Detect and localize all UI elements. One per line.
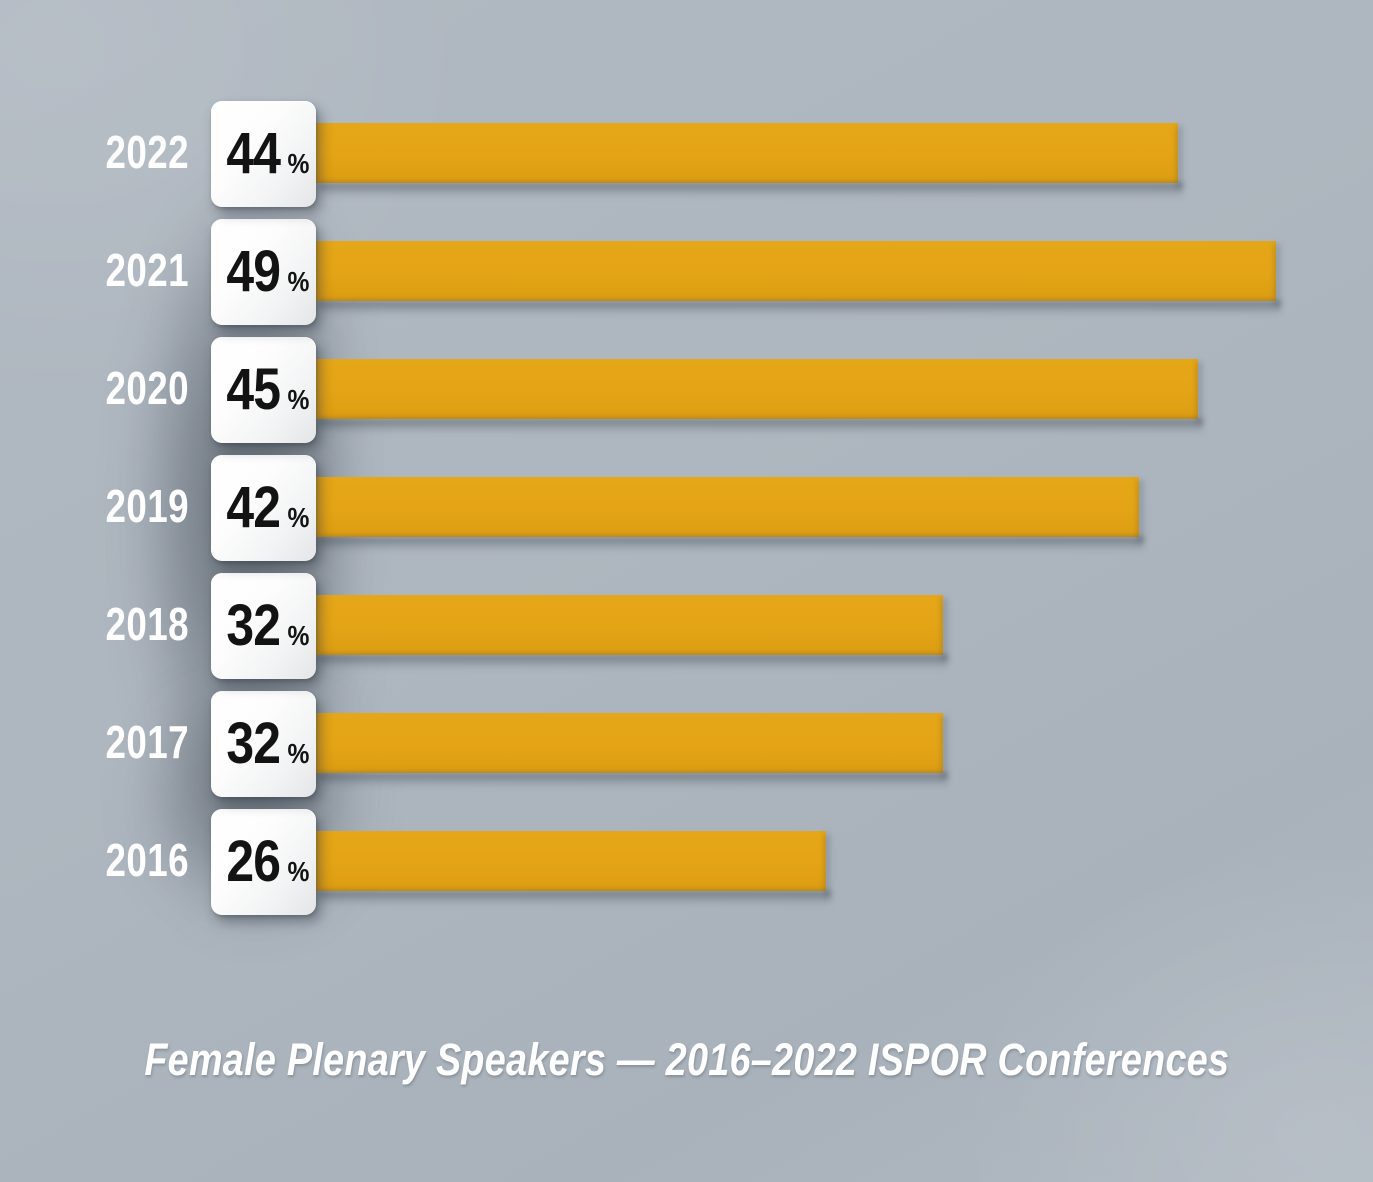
year-label: 2016 — [38, 837, 189, 883]
value-bar — [316, 831, 826, 891]
year-label: 2021 — [38, 247, 189, 293]
year-label: 2019 — [38, 483, 189, 529]
percent-card-content: 45% — [211, 361, 310, 419]
percent-card-content: 26% — [211, 833, 310, 891]
value-bar-end-shadow — [1197, 362, 1204, 424]
percent-sign: % — [287, 622, 309, 650]
percent-value: 45 — [226, 361, 280, 419]
percent-value: 42 — [226, 479, 280, 537]
value-bar-fill — [316, 595, 943, 655]
year-label: 2018 — [38, 601, 189, 647]
value-bar-end-shadow — [1138, 480, 1145, 542]
value-bar-end-shadow — [1177, 126, 1184, 188]
percent-card: 49% — [211, 219, 316, 325]
percent-card: 45% — [211, 337, 316, 443]
percent-sign: % — [287, 858, 309, 886]
bar-row: 202045% — [0, 337, 1373, 455]
chart-caption-text: Female Plenary Speakers — 2016–2022 ISPO… — [144, 1034, 1229, 1086]
percent-value: 44 — [226, 125, 280, 183]
bar-row: 202244% — [0, 101, 1373, 219]
value-bar-fill — [316, 359, 1198, 419]
value-bar — [316, 241, 1276, 301]
value-bar-end-shadow — [1275, 244, 1282, 306]
bar-row: 201732% — [0, 691, 1373, 809]
percent-card: 42% — [211, 455, 316, 561]
percent-card: 32% — [211, 691, 316, 797]
percent-card-content: 32% — [211, 715, 310, 773]
value-bar-fill — [316, 241, 1276, 301]
percent-card-content: 32% — [211, 597, 310, 655]
percent-sign: % — [287, 268, 309, 296]
percent-sign: % — [287, 740, 309, 768]
year-label: 2022 — [38, 129, 189, 175]
value-bar-end-shadow — [942, 716, 949, 778]
chart-caption: Female Plenary Speakers — 2016–2022 ISPO… — [0, 1034, 1373, 1086]
bar-row: 202149% — [0, 219, 1373, 337]
value-bar-fill — [316, 477, 1139, 537]
percent-value: 26 — [226, 833, 280, 891]
percent-card: 32% — [211, 573, 316, 679]
percent-card-content: 44% — [211, 125, 310, 183]
percent-card-content: 42% — [211, 479, 310, 537]
year-label: 2020 — [38, 365, 189, 411]
value-bar — [316, 123, 1178, 183]
percent-value: 32 — [226, 597, 280, 655]
percent-card-content: 49% — [211, 243, 310, 301]
percent-value: 49 — [226, 243, 280, 301]
value-bar — [316, 477, 1139, 537]
bar-rows-container: 202244%202149%202045%201942%201832%20173… — [0, 0, 1373, 1182]
percent-card: 44% — [211, 101, 316, 207]
value-bar — [316, 595, 943, 655]
value-bar-fill — [316, 831, 826, 891]
value-bar — [316, 359, 1198, 419]
infographic-canvas: 202244%202149%202045%201942%201832%20173… — [0, 0, 1373, 1182]
value-bar-fill — [316, 713, 943, 773]
percent-sign: % — [287, 386, 309, 414]
percent-sign: % — [287, 504, 309, 532]
value-bar-end-shadow — [825, 834, 832, 896]
value-bar — [316, 713, 943, 773]
percent-sign: % — [287, 150, 309, 178]
bar-row: 201942% — [0, 455, 1373, 573]
year-label: 2017 — [38, 719, 189, 765]
value-bar-end-shadow — [942, 598, 949, 660]
percent-card: 26% — [211, 809, 316, 915]
percent-value: 32 — [226, 715, 280, 773]
bar-row: 201626% — [0, 809, 1373, 927]
value-bar-fill — [316, 123, 1178, 183]
bar-row: 201832% — [0, 573, 1373, 691]
